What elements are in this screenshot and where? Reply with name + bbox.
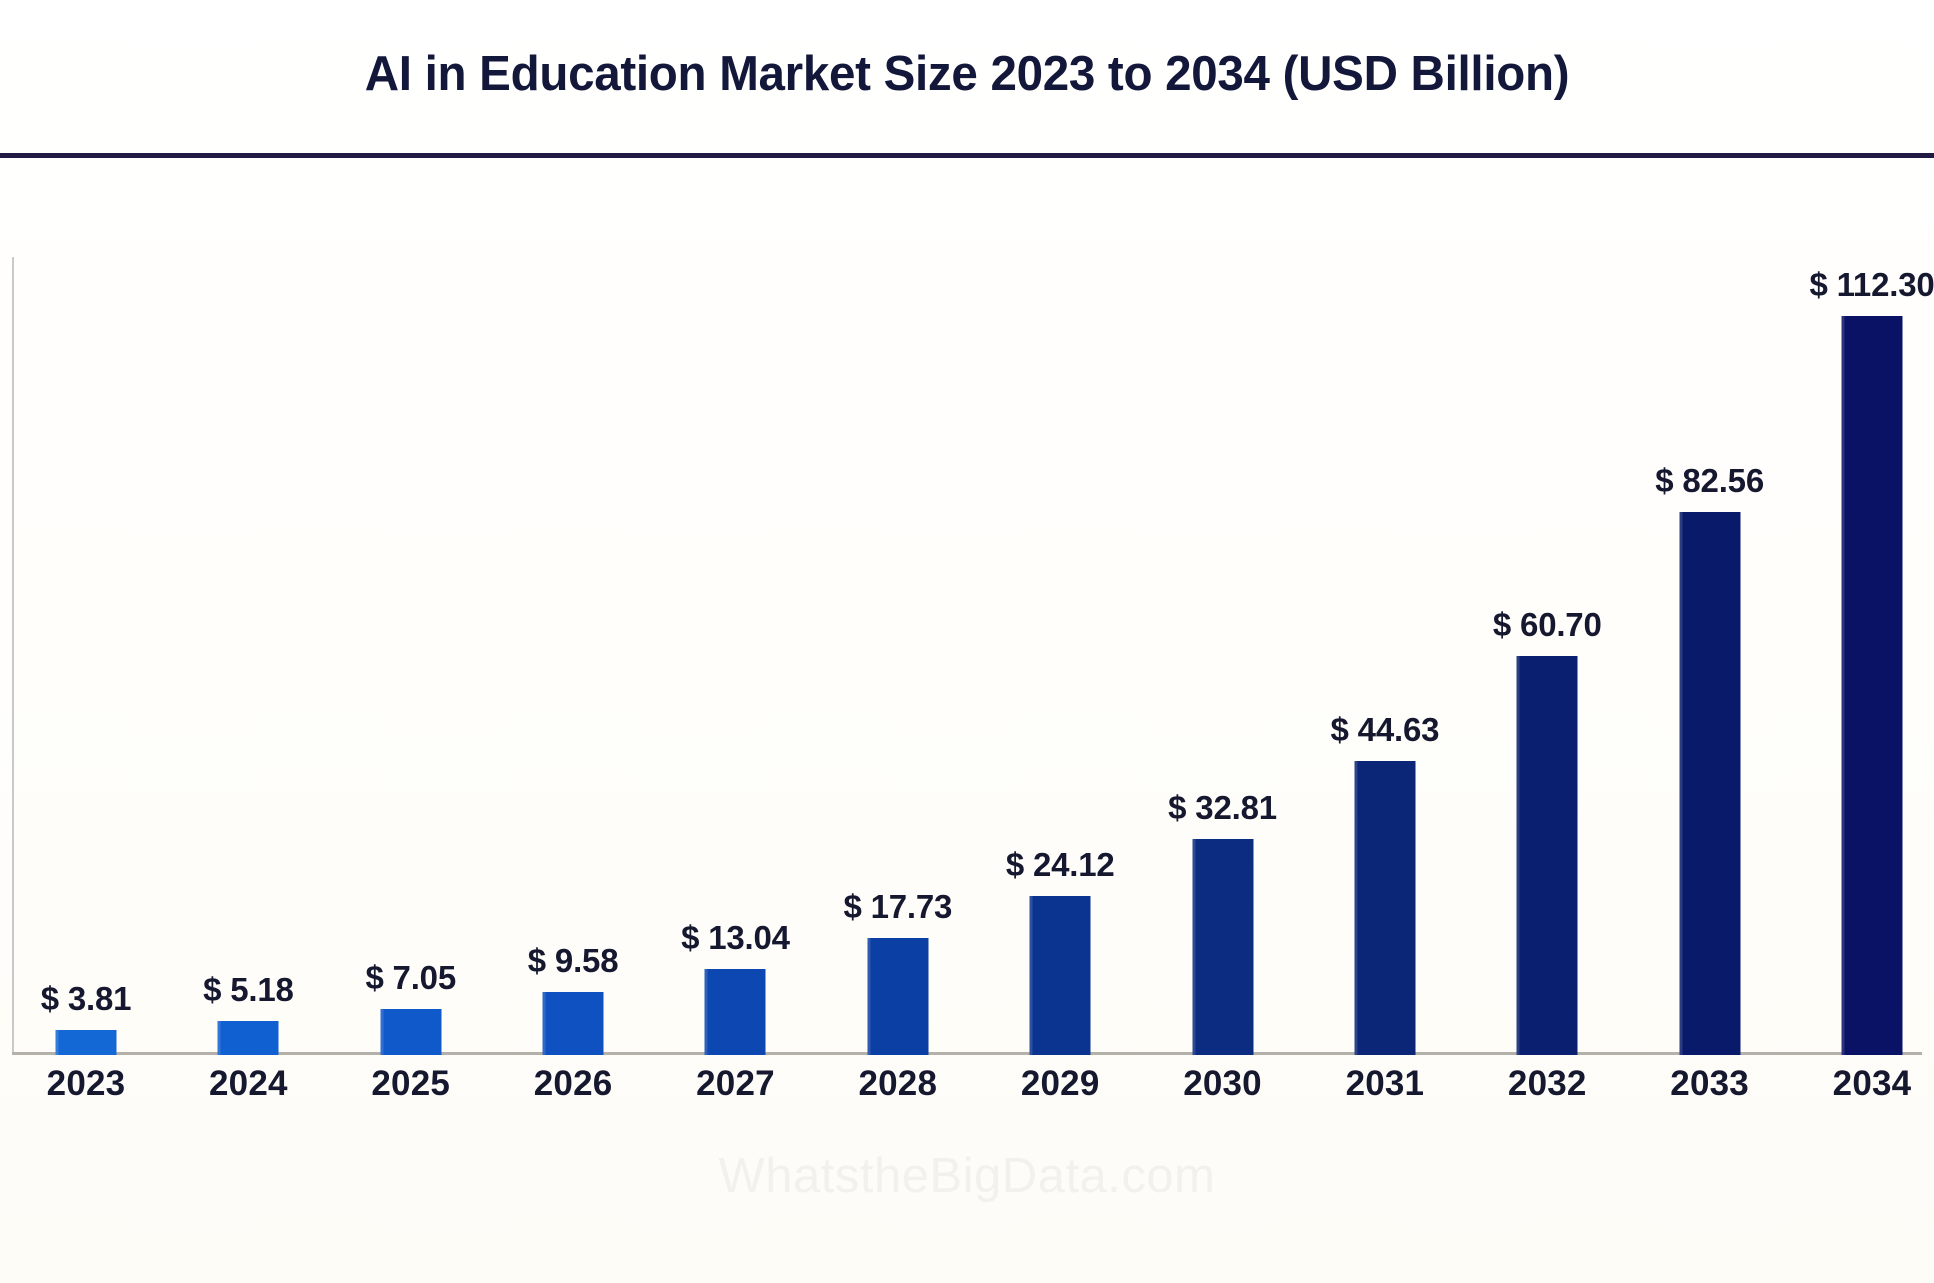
bar[interactable]	[1192, 839, 1253, 1055]
x-tick-2033: 2033	[1632, 1064, 1787, 1104]
bar-value-label: $ 32.81	[1168, 789, 1277, 827]
x-tick-2034: 2034	[1795, 1064, 1934, 1104]
bar-value-label: $ 24.12	[1006, 846, 1115, 884]
bar-series: $ 3.81$ 5.18$ 7.05$ 9.58$ 13.04$ 17.73$ …	[12, 216, 1922, 1055]
bar-column[interactable]: $ 3.81	[9, 216, 164, 1055]
bar[interactable]	[380, 1009, 441, 1055]
bar-column[interactable]: $ 32.81	[1145, 216, 1300, 1055]
chart-page: AI in Education Market Size 2023 to 2034…	[0, 0, 1934, 1283]
bar[interactable]	[867, 938, 928, 1055]
x-tick-2029: 2029	[983, 1064, 1138, 1104]
bar-value-label: $ 112.30	[1809, 266, 1934, 304]
x-tick-2023: 2023	[9, 1064, 164, 1104]
watermark: WhatstheBigData.com	[0, 1148, 1934, 1204]
x-tick-2031: 2031	[1307, 1064, 1462, 1104]
bar[interactable]	[218, 1021, 279, 1055]
bar-value-label: $ 82.56	[1655, 462, 1764, 500]
bar-value-label: $ 60.70	[1493, 606, 1602, 644]
bar-column[interactable]: $ 112.30	[1795, 216, 1934, 1055]
chart-header: AI in Education Market Size 2023 to 2034…	[0, 0, 1934, 156]
bar-value-label: $ 13.04	[681, 919, 790, 957]
bar-value-label: $ 44.63	[1331, 711, 1440, 749]
bar-value-label: $ 3.81	[41, 980, 132, 1018]
bar-value-label: $ 9.58	[528, 942, 619, 980]
bar[interactable]	[543, 992, 604, 1055]
bar-column[interactable]: $ 60.70	[1470, 216, 1625, 1055]
bar-column[interactable]: $ 9.58	[496, 216, 651, 1055]
bar[interactable]	[1517, 656, 1578, 1055]
bar[interactable]	[56, 1030, 117, 1055]
x-tick-2028: 2028	[820, 1064, 975, 1104]
bar-column[interactable]: $ 44.63	[1307, 216, 1462, 1055]
bar-column[interactable]: $ 7.05	[333, 216, 488, 1055]
x-tick-2024: 2024	[171, 1064, 326, 1104]
bar-column[interactable]: $ 82.56	[1632, 216, 1787, 1055]
bar[interactable]	[1030, 896, 1091, 1055]
bar[interactable]	[705, 969, 766, 1055]
bar-column[interactable]: $ 17.73	[820, 216, 975, 1055]
x-tick-2027: 2027	[658, 1064, 813, 1104]
bar-column[interactable]: $ 13.04	[658, 216, 813, 1055]
page-title: AI in Education Market Size 2023 to 2034…	[29, 46, 1905, 102]
bar[interactable]	[1679, 512, 1740, 1055]
x-tick-2026: 2026	[496, 1064, 651, 1104]
bar-column[interactable]: $ 24.12	[983, 216, 1138, 1055]
bar[interactable]	[1842, 316, 1903, 1055]
bar-value-label: $ 5.18	[203, 971, 294, 1009]
bar-value-label: $ 7.05	[365, 959, 456, 997]
bar[interactable]	[1354, 761, 1415, 1055]
x-axis-tick-labels: 2023202420252026202720282029203020312032…	[12, 1064, 1922, 1124]
x-tick-2025: 2025	[333, 1064, 488, 1104]
x-tick-2032: 2032	[1470, 1064, 1625, 1104]
x-tick-2030: 2030	[1145, 1064, 1300, 1104]
plot-area: $ 3.81$ 5.18$ 7.05$ 9.58$ 13.04$ 17.73$ …	[0, 156, 1934, 1283]
bar-value-label: $ 17.73	[843, 888, 952, 926]
bar-column[interactable]: $ 5.18	[171, 216, 326, 1055]
